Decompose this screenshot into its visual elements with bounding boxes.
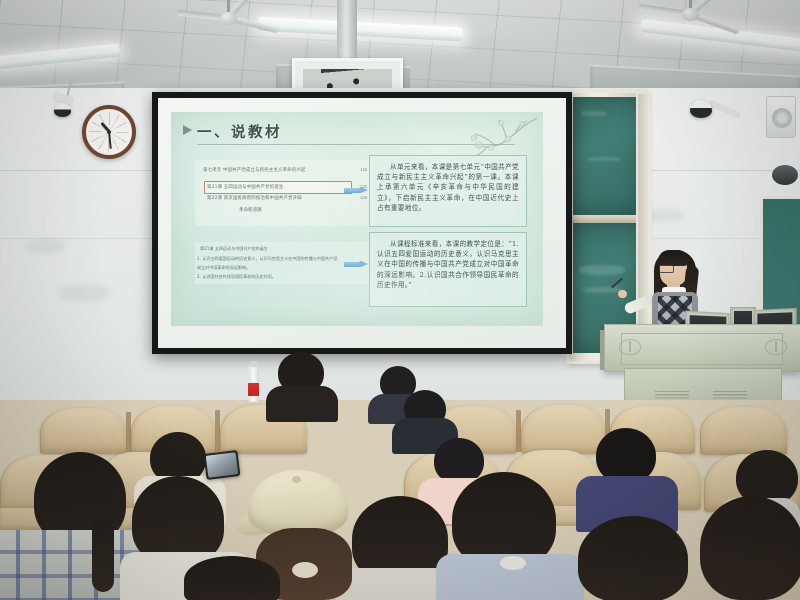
note-heading: 第21课 五四运动与中国共产党的诞生 [200,246,268,252]
toc-page-number: 118 [360,167,367,172]
blackboard [566,90,646,364]
screen-surface: 一、说教材 [158,98,566,348]
vent-grille [655,391,689,400]
water-bottle [248,366,259,402]
cap-button [292,476,301,483]
podium-emblem-icon [765,339,787,355]
blackboard-chalk-tray [569,215,643,223]
toc-row: 第七单元 中国共产党成立与新民主主义革命的兴起 [203,167,306,173]
classroom-photo-scene: 一、说教材 [0,0,800,600]
slide-title: 一、说教材 [197,121,282,142]
projection-screen: 一、说教材 [152,92,572,354]
braid [92,520,114,592]
smartphone-recording[interactable] [204,450,241,480]
hair-tie [500,556,526,570]
toc-row: 第22课 南京国民政府的统治和中国共产党开辟 [207,195,302,201]
lectern [604,324,800,372]
teacher-hand [618,290,627,298]
projector-mount-stem [337,0,357,62]
toc-page-number: 126 [360,195,367,200]
presentation-slide: 一、说教材 [171,112,543,326]
triangle-bullet-icon [183,125,192,135]
textbook-toc-block: 第七单元 中国共产党成立与新民主主义革命的兴起 118 第21课 五四运动与中国… [195,160,373,226]
podium-emblem-icon [619,339,641,355]
slide-textbox-unit: 从单元来看，本课是第七单元“中国共产党成立与新民主主义革命兴起”的第一课。本课上… [369,155,527,227]
hair-tie [292,562,318,578]
vent-grille [713,391,747,400]
wall-speaker-icon [766,96,796,138]
teacher-fringe [658,250,689,266]
wall-speaker-icon [772,165,798,185]
textbox-body: 从单元来看，本课是第七单元“中国共产党成立与新民主主义革命兴起”的第一课。本课上… [377,163,519,212]
eyeglasses-icon [659,265,674,273]
toc-row: 第21课 五四运动与中国共产党的诞生 [207,184,283,190]
toc-row: 革命新道路 [239,207,262,213]
wall-clock [82,105,136,159]
blackboard-pane [573,97,639,215]
